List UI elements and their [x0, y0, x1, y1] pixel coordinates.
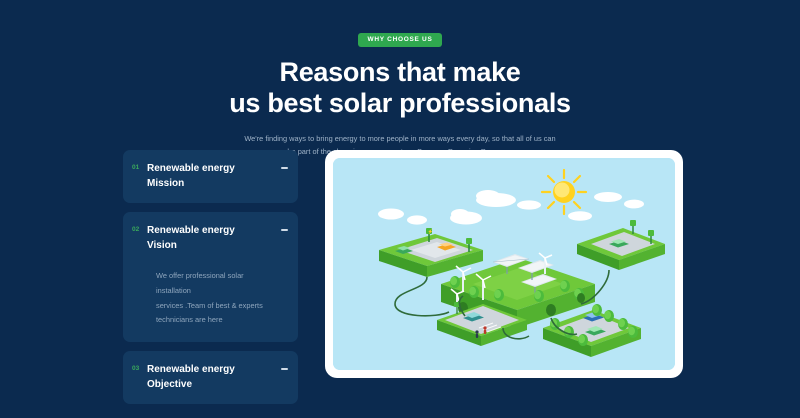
accordion-title-1-line-2: Mission [147, 177, 286, 192]
accordion-title-2: Renewable energy Vision [147, 224, 286, 253]
accordion-body-2-line-1: We offer professional solar installation [156, 269, 278, 299]
page-subtitle-line-1: We're finding ways to bring energy to mo… [230, 132, 570, 146]
accordion-title-1-line-1: Renewable energy [147, 162, 286, 177]
accordion-number-3: 03 [132, 363, 147, 373]
accordion-title-3: Renewable energy Objective [147, 363, 286, 392]
page-title-line-2: us best solar professionals [0, 88, 800, 120]
accordion-item-1[interactable]: 01 Renewable energy Mission [123, 150, 298, 203]
svg-text:⚡: ⚡ [428, 228, 434, 235]
accordion-number-1: 01 [132, 162, 147, 172]
accordion-title-2-line-2: Vision [147, 239, 286, 254]
accordion-item-2[interactable]: 02 Renewable energy Vision We offer prof… [123, 212, 298, 342]
accordion-list: 01 Renewable energy Mission 02 Renewable… [123, 150, 298, 413]
accordion-body-2-line-3: technicians are here [156, 313, 278, 328]
illustration-frame: ⚡ [325, 150, 683, 378]
minus-icon[interactable] [281, 229, 288, 231]
page-root: WHY CHOOSE US Reasons that make us best … [0, 0, 800, 418]
illustration-isometric-renewable-city: ⚡ [333, 158, 675, 370]
sun-icon [542, 170, 586, 214]
section-content: 01 Renewable energy Mission 02 Renewable… [0, 145, 800, 418]
page-title: Reasons that make us best solar professi… [0, 57, 800, 120]
accordion-title-2-line-1: Renewable energy [147, 224, 286, 239]
accordion-body-2: We offer professional solar installation… [132, 253, 286, 330]
accordion-body-2-line-2: services .Team of best & experts [156, 299, 278, 314]
accordion-number-2: 02 [132, 224, 147, 234]
accordion-header-3[interactable]: 03 Renewable energy Objective [132, 363, 286, 392]
section-eyebrow-badge: WHY CHOOSE US [358, 33, 443, 47]
accordion-title-3-line-2: Objective [147, 378, 286, 393]
illustration-svg: ⚡ [333, 158, 675, 370]
accordion-header-1[interactable]: 01 Renewable energy Mission [132, 162, 286, 191]
minus-icon[interactable] [281, 368, 288, 370]
accordion-title-3-line-1: Renewable energy [147, 363, 286, 378]
accordion-item-3[interactable]: 03 Renewable energy Objective [123, 351, 298, 404]
section-header: WHY CHOOSE US Reasons that make us best … [0, 0, 800, 159]
minus-icon[interactable] [281, 167, 288, 169]
page-title-line-1: Reasons that make [0, 57, 800, 89]
accordion-header-2[interactable]: 02 Renewable energy Vision [132, 224, 286, 253]
accordion-title-1: Renewable energy Mission [147, 162, 286, 191]
